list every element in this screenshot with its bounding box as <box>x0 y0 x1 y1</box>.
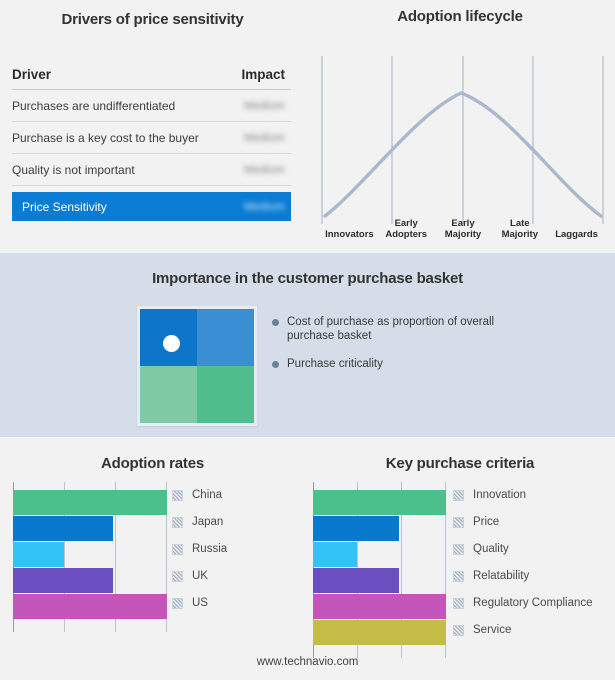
bar-japan[interactable] <box>13 516 113 541</box>
legend-item-quality[interactable]: Quality <box>453 536 593 562</box>
impact-value: Medium <box>244 132 285 144</box>
driver-label: Quality is not important <box>12 163 135 177</box>
top-band: Drivers of price sensitivity Driver Impa… <box>0 0 615 253</box>
bar-service[interactable] <box>313 620 446 645</box>
quadrant-bottom-right[interactable] <box>197 366 254 423</box>
impact-value: Medium <box>244 100 285 112</box>
bar-row-price[interactable] <box>313 516 446 541</box>
bar-row-quality[interactable] <box>313 542 446 567</box>
impact-value: Medium <box>244 201 285 213</box>
legend-label: Regulatory Compliance <box>473 597 593 609</box>
bar-russia[interactable] <box>13 542 64 567</box>
lifecycle-segment-late-majority: Late Majority <box>491 218 548 242</box>
bar-row-russia[interactable] <box>13 542 167 567</box>
legend-bullet-icon <box>272 319 279 326</box>
lifecycle-curve-chart <box>321 56 605 224</box>
bar-row-innovation[interactable] <box>313 490 446 515</box>
legend-item-regulatory-compliance[interactable]: Regulatory Compliance <box>453 590 593 616</box>
bar-innovation[interactable] <box>313 490 446 515</box>
footer-url[interactable]: www.technavio.com <box>0 656 615 668</box>
legend-label: Russia <box>192 543 227 555</box>
bell-curve-svg <box>321 56 605 224</box>
driver-label: Purchase is a key cost to the buyer <box>12 131 199 145</box>
lifecycle-segment-early-majority: Early Majority <box>435 218 492 242</box>
key-purchase-criteria-bars <box>313 482 446 658</box>
legend-label: US <box>192 597 208 609</box>
legend-label: Cost of purchase as proportion of overal… <box>287 315 507 343</box>
legend-swatch-icon <box>172 544 183 555</box>
bar-china[interactable] <box>13 490 167 515</box>
legend-swatch-icon <box>453 490 464 501</box>
bar-row-service[interactable] <box>313 620 446 645</box>
lifecycle-panel-title: Adoption lifecycle <box>305 8 615 25</box>
drivers-panel-title: Drivers of price sensitivity <box>0 11 305 28</box>
legend-label: Price <box>473 516 499 528</box>
lifecycle-gridlines <box>322 56 603 224</box>
legend-label: Quality <box>473 543 509 555</box>
bar-row-japan[interactable] <box>13 516 167 541</box>
quadrant-matrix-frame <box>137 306 257 426</box>
lifecycle-panel: Adoption lifecycle Innovators Early Adop… <box>305 0 615 253</box>
key-purchase-criteria-legend: Innovation Price Quality Relatability Re… <box>453 482 593 644</box>
basket-panel-title: Importance in the customer purchase bask… <box>0 270 615 287</box>
table-row[interactable]: Purchases are undifferentiated Medium <box>12 90 291 122</box>
bar-row-china[interactable] <box>13 490 167 515</box>
quadrant-matrix <box>140 309 254 423</box>
bar-price[interactable] <box>313 516 399 541</box>
legend-swatch-icon <box>453 598 464 609</box>
legend-swatch-icon <box>453 571 464 582</box>
legend-swatch-icon <box>172 517 183 528</box>
legend-item-china[interactable]: China <box>172 482 227 508</box>
infographic-root: Drivers of price sensitivity Driver Impa… <box>0 0 615 680</box>
drivers-table: Driver Impact Purchases are undifferenti… <box>12 60 291 221</box>
bar-row-uk[interactable] <box>13 568 167 593</box>
legend-bullet-icon <box>272 361 279 368</box>
position-marker-dot <box>163 335 180 352</box>
legend-swatch-icon <box>453 544 464 555</box>
adoption-rates-title: Adoption rates <box>0 455 305 472</box>
adoption-rates-plot-area <box>13 482 167 632</box>
legend-swatch-icon <box>453 625 464 636</box>
legend-item-relatability[interactable]: Relatability <box>453 563 593 589</box>
adoption-rates-legend: China Japan Russia UK US <box>172 482 227 617</box>
legend-item-us[interactable]: US <box>172 590 227 616</box>
column-header-impact: Impact <box>241 67 285 82</box>
legend-swatch-icon <box>172 598 183 609</box>
bar-us[interactable] <box>13 594 167 619</box>
bar-row-relatability[interactable] <box>313 568 446 593</box>
table-row-highlighted[interactable]: Price Sensitivity Medium <box>12 192 291 221</box>
legend-label: Innovation <box>473 489 526 501</box>
adoption-rates-plot <box>13 482 167 632</box>
legend-item-uk[interactable]: UK <box>172 563 227 589</box>
key-purchase-criteria-title: Key purchase criteria <box>305 455 615 472</box>
legend-swatch-icon <box>453 517 464 528</box>
lifecycle-segment-laggards: Laggards <box>548 229 605 242</box>
column-header-driver: Driver <box>12 67 51 82</box>
legend-item-service[interactable]: Service <box>453 617 593 643</box>
legend-item-price[interactable]: Price <box>453 509 593 535</box>
key-purchase-criteria-plot <box>313 482 446 658</box>
lifecycle-segment-labels: Innovators Early Adopters Early Majority… <box>321 210 605 242</box>
basket-legend: Cost of purchase as proportion of overal… <box>272 315 592 385</box>
key-purchase-criteria-plot-area <box>313 482 446 658</box>
legend-item: Purchase criticality <box>272 357 592 371</box>
legend-label: Japan <box>192 516 223 528</box>
drivers-panel: Drivers of price sensitivity Driver Impa… <box>0 0 305 253</box>
bar-row-us[interactable] <box>13 594 167 619</box>
legend-label: Service <box>473 624 511 636</box>
legend-label: China <box>192 489 222 501</box>
legend-item: Cost of purchase as proportion of overal… <box>272 315 592 343</box>
impact-value: Medium <box>244 164 285 176</box>
legend-item-innovation[interactable]: Innovation <box>453 482 593 508</box>
lifecycle-segment-early-adopters: Early Adopters <box>378 218 435 242</box>
legend-item-japan[interactable]: Japan <box>172 509 227 535</box>
table-row[interactable]: Purchase is a key cost to the buyer Medi… <box>12 122 291 154</box>
bar-quality[interactable] <box>313 542 357 567</box>
legend-label: Purchase criticality <box>287 357 383 371</box>
legend-swatch-icon <box>172 571 183 582</box>
legend-label: UK <box>192 570 208 582</box>
quadrant-bottom-left[interactable] <box>140 366 197 423</box>
adoption-rates-panel: Adoption rates <box>0 437 305 680</box>
legend-item-russia[interactable]: Russia <box>172 536 227 562</box>
adoption-rates-bars <box>13 482 167 632</box>
quadrant-top-right[interactable] <box>197 309 254 366</box>
bar-row-regulatory-compliance[interactable] <box>313 594 446 619</box>
bar-uk[interactable] <box>13 568 113 593</box>
key-purchase-criteria-panel: Key purchase criteria <box>305 437 615 680</box>
legend-swatch-icon <box>172 490 183 501</box>
driver-label: Purchases are undifferentiated <box>12 99 175 113</box>
table-header-row: Driver Impact <box>12 60 291 90</box>
purchase-basket-band: Importance in the customer purchase bask… <box>0 253 615 437</box>
legend-label: Relatability <box>473 570 529 582</box>
bar-relatability[interactable] <box>313 568 399 593</box>
bar-regulatory-compliance[interactable] <box>313 594 446 619</box>
lifecycle-segment-innovators: Innovators <box>321 229 378 242</box>
table-row[interactable]: Quality is not important Medium <box>12 154 291 186</box>
driver-label: Price Sensitivity <box>22 200 107 214</box>
bottom-band: Adoption rates <box>0 437 615 680</box>
